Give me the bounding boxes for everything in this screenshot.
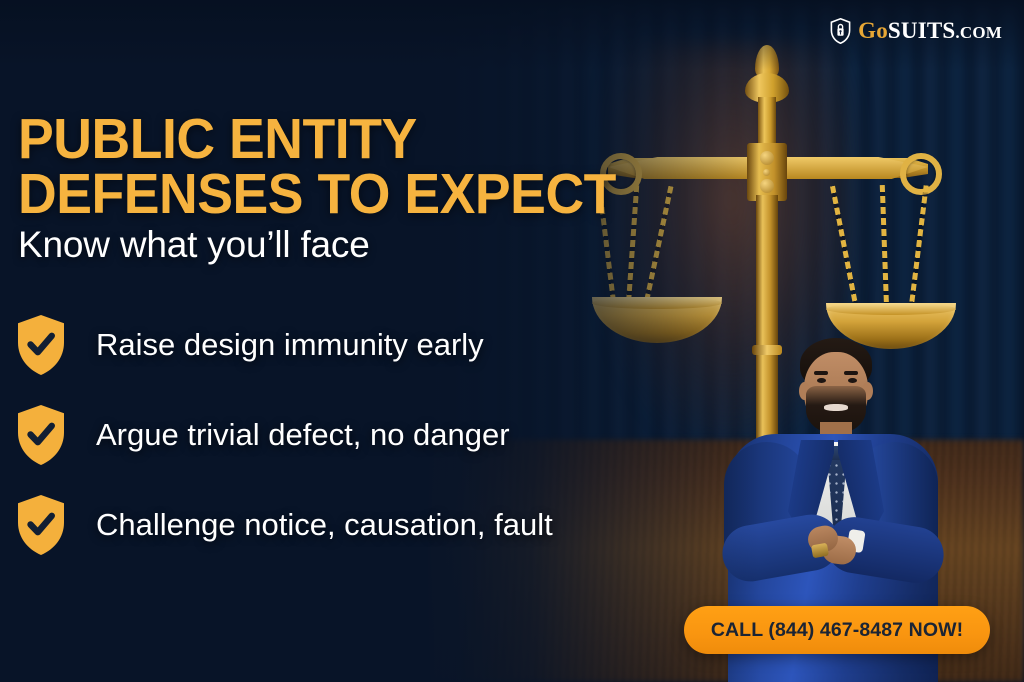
benefits-list: Raise design immunity early Argue trivia… xyxy=(16,314,716,584)
page-title: PUBLIC ENTITY DEFENSES TO EXPECT xyxy=(18,112,620,223)
list-item-label: Raise design immunity early xyxy=(96,327,484,363)
brand-name-suits: SUITS xyxy=(888,18,955,43)
list-item: Raise design immunity early xyxy=(16,314,716,376)
brand-logo-text: GoSUITS.COM xyxy=(858,18,1002,44)
subtitle: Know what you’ll face xyxy=(18,224,370,266)
shield-lock-icon xyxy=(830,18,851,44)
list-item: Challenge notice, causation, fault xyxy=(16,494,716,556)
headline-line-2: DEFENSES TO EXPECT xyxy=(18,167,620,222)
shield-check-icon xyxy=(16,494,66,556)
brand-name-com: .COM xyxy=(955,23,1002,42)
list-item: Argue trivial defect, no danger xyxy=(16,404,716,466)
list-item-label: Argue trivial defect, no danger xyxy=(96,417,510,453)
shield-check-icon xyxy=(16,314,66,376)
content-layer: GoSUITS.COM PUBLIC ENTITY DEFENSES TO EX… xyxy=(0,0,1024,682)
call-now-button[interactable]: CALL (844) 467-8487 NOW! xyxy=(684,606,990,654)
infographic-canvas: GoSUITS.COM PUBLIC ENTITY DEFENSES TO EX… xyxy=(0,0,1024,682)
shield-check-icon xyxy=(16,404,66,466)
brand-logo[interactable]: GoSUITS.COM xyxy=(830,18,1002,44)
call-now-button-label: CALL (844) 467-8487 NOW! xyxy=(711,619,963,642)
brand-name-go: Go xyxy=(858,18,888,43)
list-item-label: Challenge notice, causation, fault xyxy=(96,507,553,543)
